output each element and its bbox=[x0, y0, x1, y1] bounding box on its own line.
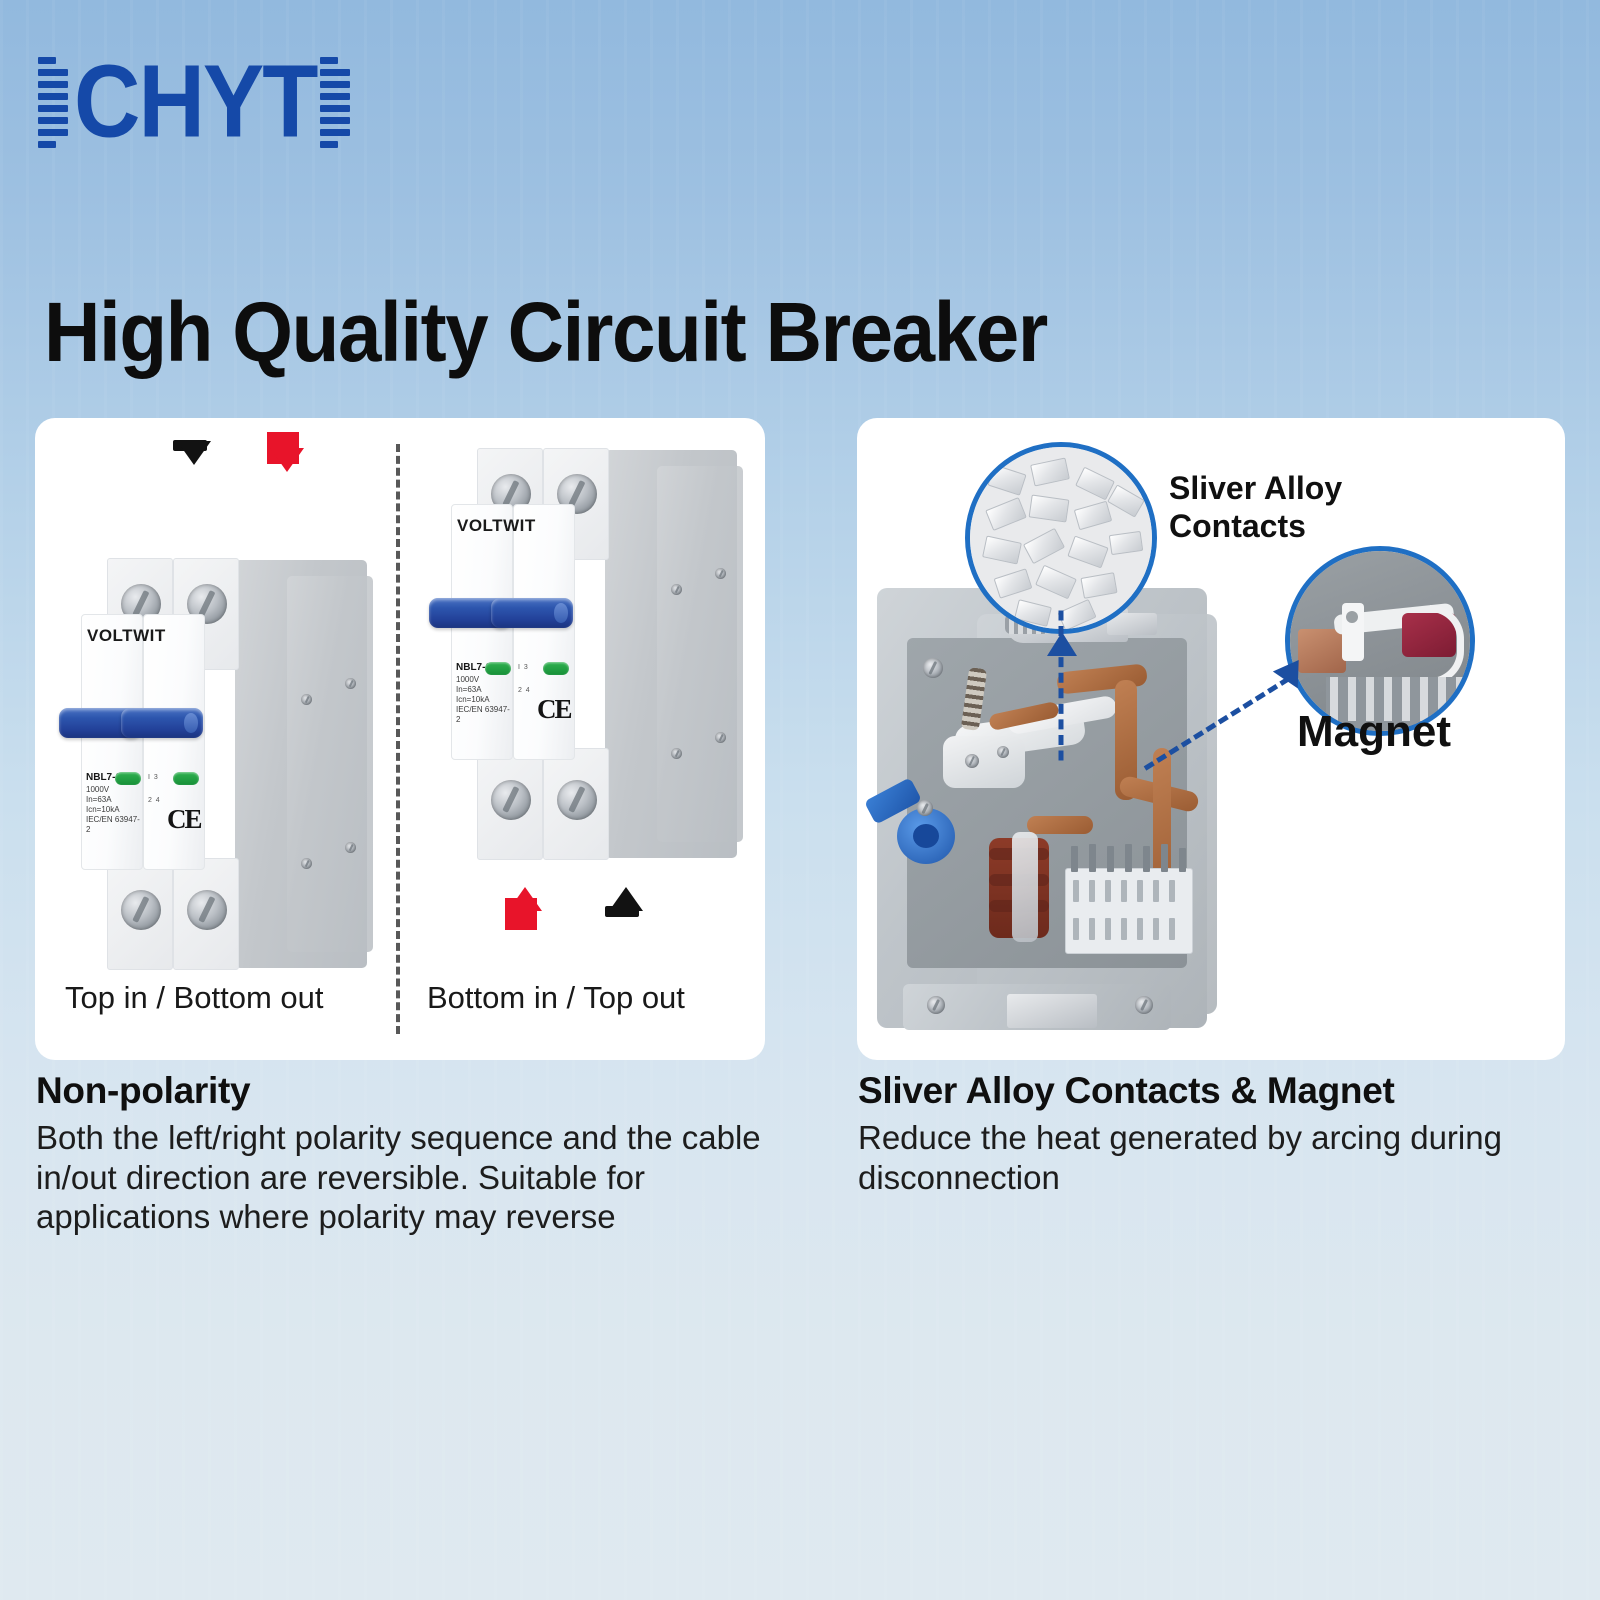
feature-block-non-polarity: Non-polarity Both the left/right polarit… bbox=[36, 1070, 796, 1237]
feature-heading: Sliver Alloy Contacts & Magnet bbox=[858, 1070, 1568, 1112]
sliver-alloy-contacts-callout-circle bbox=[965, 442, 1157, 634]
status-indicator-left bbox=[115, 772, 141, 785]
magnet-label: Magnet bbox=[1297, 706, 1451, 758]
marker-negative-top-in bbox=[173, 440, 207, 483]
feature-heading: Non-polarity bbox=[36, 1070, 796, 1112]
panel-divider bbox=[396, 444, 400, 1034]
marker-negative-bottom-in bbox=[605, 870, 639, 917]
brand-logo: CHYT bbox=[38, 52, 350, 152]
internal-structure-card: Sliver Alloy Contacts Magnet bbox=[857, 418, 1565, 1060]
non-polarity-illustration-card: VOLTWIT NBL7-63 1000V In=63A Icn=10kA IE… bbox=[35, 418, 765, 1060]
arrow-down-icon bbox=[177, 465, 203, 483]
caption-bottom-in-top-out: Bottom in / Top out bbox=[427, 980, 685, 1016]
arrow-up-icon bbox=[609, 870, 635, 888]
arrow-up-icon bbox=[508, 870, 534, 888]
page-title: High Quality Circuit Breaker bbox=[44, 284, 1047, 381]
caption-top-in-bottom-out: Top in / Bottom out bbox=[65, 980, 323, 1016]
ce-mark: CE bbox=[537, 694, 571, 725]
device-spec-current: In=63A bbox=[86, 795, 144, 805]
marker-positive-top-in bbox=[267, 432, 299, 490]
sliver-alloy-contacts-label: Sliver Alloy Contacts bbox=[1169, 470, 1342, 546]
logo-stripe-right bbox=[320, 56, 350, 148]
marker-positive-bottom-in bbox=[505, 870, 537, 930]
device-brand-label: VOLTWIT bbox=[87, 626, 166, 646]
contacts-callout-arrowhead bbox=[1047, 632, 1077, 656]
device-spec-voltage: 1000V bbox=[86, 785, 144, 795]
device-brand-label: VOLTWIT bbox=[457, 516, 536, 536]
breaker-device-right: VOLTWIT NBL7-63 1000V In=63A Icn=10kA IE… bbox=[425, 448, 755, 868]
logo-wordmark: CHYT bbox=[74, 56, 316, 149]
device-spec-standard: IEC/EN 63947-2 bbox=[456, 705, 514, 725]
device-spec-current: In=63A bbox=[456, 685, 514, 695]
breaker-device-left: VOLTWIT NBL7-63 1000V In=63A Icn=10kA IE… bbox=[55, 558, 385, 978]
plus-sign-icon bbox=[505, 898, 537, 930]
device-spec-breaking: Icn=10kA bbox=[456, 695, 514, 705]
device-spec-standard: IEC/EN 63947-2 bbox=[86, 815, 144, 835]
feature-body: Reduce the heat generated by arcing duri… bbox=[858, 1118, 1568, 1197]
feature-body: Both the left/right polarity sequence an… bbox=[36, 1118, 796, 1237]
arrow-down-icon bbox=[270, 472, 296, 490]
logo-stripe-left bbox=[38, 56, 68, 148]
device-spec-voltage: 1000V bbox=[456, 675, 514, 685]
status-indicator-right bbox=[173, 772, 199, 785]
feature-block-contacts-magnet: Sliver Alloy Contacts & Magnet Reduce th… bbox=[858, 1070, 1568, 1197]
ce-mark: CE bbox=[167, 804, 201, 835]
device-spec-breaking: Icn=10kA bbox=[86, 805, 144, 815]
status-indicator-right bbox=[543, 662, 569, 675]
status-indicator-left bbox=[485, 662, 511, 675]
